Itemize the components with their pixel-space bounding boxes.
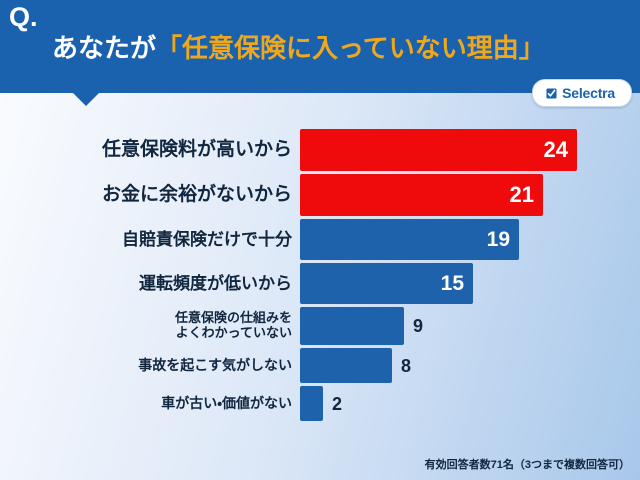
bar: 21	[300, 174, 543, 216]
bar-category-label: 事故を起こす気がしない	[0, 358, 300, 374]
chart-row: 運転頻度が低いから15	[0, 263, 640, 304]
chart-row: 自賠責保険だけで十分19	[0, 219, 640, 260]
chart-row: 任意保険の仕組みを よくわかっていない9	[0, 307, 640, 345]
bar-category-label: 車が古い・価値がない	[0, 396, 300, 412]
horizontal-bar-chart: 任意保険料が高いから24お金に余裕がないから21自賠責保険だけで十分19運転頻度…	[0, 125, 640, 435]
bar: 19	[300, 219, 519, 260]
bar-value-label: 9	[404, 317, 423, 335]
sample-size-note: 有効回答者数71名（3つまで複数回答可）	[425, 456, 630, 472]
bar: 24	[300, 129, 577, 171]
bar-track: 19	[300, 219, 640, 260]
chart-row: 任意保険料が高いから24	[0, 129, 640, 171]
bar-category-label: 任意保険料が高いから	[0, 139, 300, 160]
bar-track: 2	[300, 386, 640, 421]
bar-track: 21	[300, 174, 640, 216]
bar-track: 8	[300, 348, 640, 383]
header-pointer-triangle	[73, 93, 99, 106]
page-title-highlight: 「任意保険に入っていない理由」	[156, 33, 545, 63]
bar-value-label: 8	[392, 357, 411, 375]
selectra-wordmark: Selectra	[562, 86, 615, 100]
selectra-logo-badge[interactable]: Selectra	[532, 79, 632, 107]
bar: 15	[300, 263, 473, 304]
bar-category-label: お金に余裕がないから	[0, 184, 300, 205]
question-marker: Q.	[9, 2, 38, 32]
bar-category-label: 運転頻度が低いから	[0, 274, 300, 293]
survey-infographic: Q. あなたが「任意保険に入っていない理由」 Selectra 任意保険料が高い…	[0, 0, 640, 480]
bar	[300, 307, 404, 345]
bar-value-label: 15	[441, 273, 473, 294]
bar-category-label: 自賠責保険だけで十分	[0, 230, 300, 249]
bar-track: 15	[300, 263, 640, 304]
bar-track: 9	[300, 307, 640, 345]
bar-track: 24	[300, 129, 640, 171]
chart-row: 事故を起こす気がしない8	[0, 348, 640, 383]
bar-value-label: 21	[510, 184, 543, 206]
bar	[300, 348, 392, 383]
chart-row: お金に余裕がないから21	[0, 174, 640, 216]
chart-row: 車が古い・価値がない2	[0, 386, 640, 421]
page-title-plain: あなたが	[52, 33, 156, 63]
bar-category-label: 任意保険の仕組みを よくわかっていない	[0, 311, 300, 340]
page-title: あなたが「任意保険に入っていない理由」	[52, 27, 632, 69]
bar-value-label: 24	[544, 139, 577, 161]
bar-value-label: 19	[487, 229, 519, 250]
bar-value-label: 2	[323, 395, 342, 413]
bar	[300, 386, 323, 421]
checkbox-checked-icon	[546, 88, 557, 99]
